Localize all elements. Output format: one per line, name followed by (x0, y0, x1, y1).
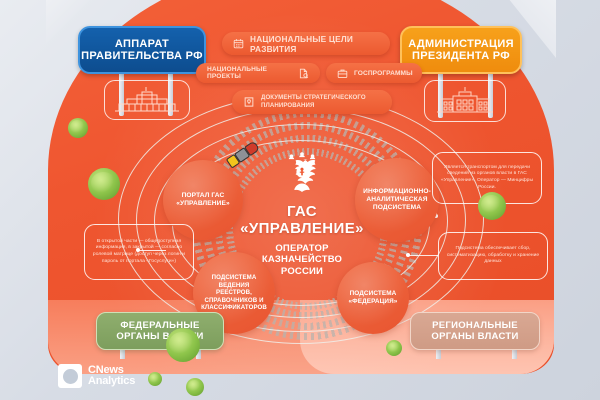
government-building-icon (424, 80, 506, 122)
center-title-line2: «УПРАВЛЕНИЕ» (232, 221, 372, 238)
pill-label: ГОСПРОГРАММЫ (354, 70, 413, 77)
node-line2: АНАЛИТИЧЕСКАЯ (363, 196, 431, 204)
sign-line1: АДМИНИСТРАЦИЯ (408, 38, 514, 50)
shield-document-icon (243, 96, 255, 108)
sign-line1: АППАРАТ (81, 38, 203, 50)
pill-state-programs[interactable]: ГОСПРОГРАММЫ (326, 63, 422, 83)
bush-decoration (386, 340, 402, 356)
pill-national-goals[interactable]: НАЦИОНАЛЬНЫЕ ЦЕЛИ РАЗВИТИЯ (222, 32, 390, 55)
center-title-line1: ГАС (232, 204, 372, 221)
node-line3: ПОДСИСТЕМА (363, 204, 431, 212)
center-subtitle-line1: ОПЕРАТОР (232, 243, 372, 255)
node-federation-subsystem[interactable]: ПОДСИСТЕМА «ФЕДЕРАЦИЯ» (337, 262, 409, 334)
callout-text: Является транспортом для передачи сведен… (440, 165, 534, 191)
connector-line (408, 255, 438, 256)
node-line1: ПОДСИСТЕМА (200, 274, 268, 281)
sign-line2: ПРАВИТЕЛЬСТВА РФ (81, 50, 203, 62)
node-info-analytic-subsystem[interactable]: ИНФОРМАЦИОННО- АНАЛИТИЧЕСКАЯ ПОДСИСТЕМА (355, 158, 439, 242)
bush-decoration (186, 378, 204, 396)
sign-government-apparatus[interactable]: АППАРАТ ПРАВИТЕЛЬСТВА РФ (78, 26, 206, 74)
circle-in-square-icon (58, 364, 82, 388)
government-building-icon (104, 80, 190, 120)
node-line2: «ФЕДЕРАЦИЯ» (349, 298, 398, 306)
node-line2: ВЕДЕНИЯ РЕЕСТРОВ, (200, 282, 268, 297)
pill-label: ДОКУМЕНТЫ СТРАТЕГИЧЕСКОГО ПЛАНИРОВАНИЯ (261, 94, 381, 109)
connector-dot (406, 253, 410, 257)
callout-portal-note: В открытой части — общедоступная информа… (84, 224, 194, 280)
callout-info-note: Подсистема обеспечивает сбор, систематиз… (438, 232, 548, 280)
callout-text: В открытой части — общедоступная информа… (92, 239, 186, 265)
document-search-icon (298, 68, 309, 79)
bush-decoration (68, 118, 88, 138)
logo-line2: Analytics (88, 376, 135, 387)
node-line1: ПОРТАЛ ГАС (176, 192, 229, 200)
pill-label: НАЦИОНАЛЬНЫЕ ПРОЕКТЫ (207, 66, 292, 80)
sign-federal-authorities[interactable]: ФЕДЕРАЛЬНЫЕ ОРГАНЫ ВЛАСТИ (96, 312, 224, 350)
infographic-canvas: АППАРАТ ПРАВИТЕЛЬСТВА РФ АДМИНИСТРАЦИЯ П… (0, 0, 600, 400)
pill-national-projects[interactable]: НАЦИОНАЛЬНЫЕ ПРОЕКТЫ (196, 63, 320, 83)
cnews-analytics-logo: CNews Analytics (58, 364, 135, 388)
node-line1: ПОДСИСТЕМА (349, 290, 398, 298)
node-line2: «УПРАВЛЕНИЕ» (176, 200, 229, 208)
bush-decoration (148, 372, 162, 386)
node-line3: СПРАВОЧНИКОВ И (200, 297, 268, 304)
bush-decoration (166, 328, 200, 362)
node-line4: КЛАССИФИКАТОРОВ (200, 304, 268, 311)
bush-decoration (478, 192, 506, 220)
callout-text: Подсистема обеспечивает сбор, систематиз… (446, 246, 540, 266)
sign-regional-authorities[interactable]: РЕГИОНАЛЬНЫЕ ОРГАНЫ ВЛАСТИ (410, 312, 540, 350)
sign-line1: РЕГИОНАЛЬНЫЕ (431, 320, 518, 331)
node-line1: ИНФОРМАЦИОННО- (363, 188, 431, 196)
russian-coat-of-arms-icon (280, 150, 324, 198)
briefcase-icon (337, 68, 348, 79)
pill-label: НАЦИОНАЛЬНЫЕ ЦЕЛИ РАЗВИТИЯ (250, 34, 379, 54)
sign-line2: ОРГАНЫ ВЛАСТИ (431, 331, 518, 342)
pill-strategic-planning-docs[interactable]: ДОКУМЕНТЫ СТРАТЕГИЧЕСКОГО ПЛАНИРОВАНИЯ (232, 90, 392, 114)
sign-line2: ПРЕЗИДЕНТА РФ (408, 50, 514, 62)
bush-decoration (88, 168, 120, 200)
calendar-icon (233, 38, 244, 49)
